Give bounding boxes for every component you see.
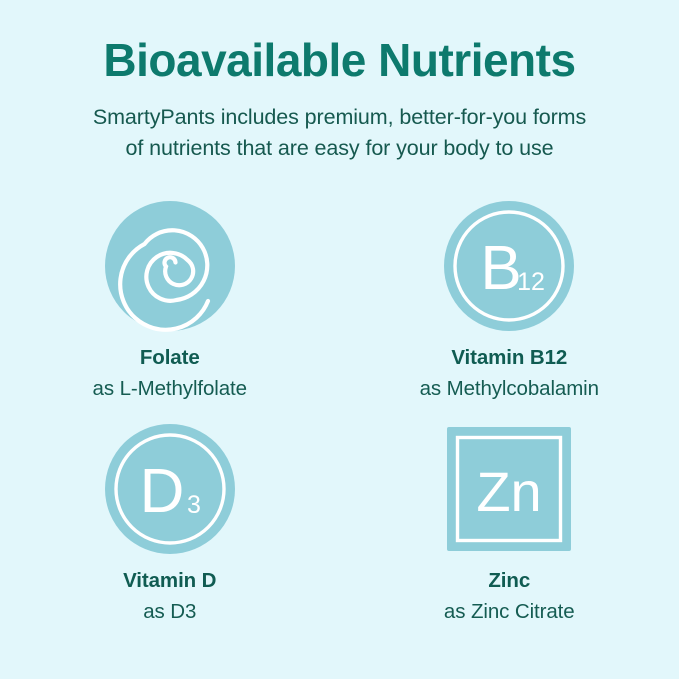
nutrient-name: Vitamin B12 bbox=[420, 345, 599, 371]
nutrient-labels: Folate as L-Methylfolate bbox=[93, 345, 247, 402]
vitamin-d3-icon: D 3 bbox=[104, 423, 236, 555]
nutrient-labels: Zinc as Zinc Citrate bbox=[444, 568, 575, 625]
b12-letter: B bbox=[481, 234, 522, 303]
spiral-icon bbox=[104, 200, 236, 332]
nutrient-card-vitamin-d: D 3 Vitamin D as D3 bbox=[0, 423, 340, 625]
b12-subscript: 12 bbox=[517, 268, 545, 296]
nutrient-name: Folate bbox=[93, 345, 247, 371]
nutrient-card-zinc: Zn Zinc as Zinc Citrate bbox=[340, 423, 679, 625]
nutrient-form: as L-Methylfolate bbox=[93, 375, 247, 403]
nutrient-grid: Folate as L-Methylfolate B 12 Vitamin B1… bbox=[0, 200, 679, 626]
page-subtitle: SmartyPants includes premium, better-for… bbox=[40, 102, 640, 163]
d3-subscript: 3 bbox=[187, 491, 201, 519]
nutrient-card-vitamin-b12: B 12 Vitamin B12 as Methylcobalamin bbox=[340, 200, 679, 402]
page-title: Bioavailable Nutrients bbox=[0, 36, 679, 84]
header: Bioavailable Nutrients SmartyPants inclu… bbox=[0, 0, 679, 163]
nutrient-infographic: Bioavailable Nutrients SmartyPants inclu… bbox=[0, 0, 679, 679]
nutrient-form: as Methylcobalamin bbox=[420, 375, 599, 403]
subtitle-line-2: of nutrients that are easy for your body… bbox=[40, 133, 640, 164]
nutrient-name: Vitamin D bbox=[123, 568, 216, 594]
subtitle-line-1: SmartyPants includes premium, better-for… bbox=[40, 102, 640, 133]
zinc-icon: Zn bbox=[443, 423, 575, 555]
nutrient-name: Zinc bbox=[444, 568, 575, 594]
nutrient-labels: Vitamin B12 as Methylcobalamin bbox=[420, 345, 599, 402]
nutrient-labels: Vitamin D as D3 bbox=[123, 568, 216, 625]
vitamin-b12-icon: B 12 bbox=[443, 200, 575, 332]
zinc-symbol: Zn bbox=[477, 460, 542, 523]
nutrient-form: as D3 bbox=[123, 598, 216, 626]
nutrient-card-folate: Folate as L-Methylfolate bbox=[0, 200, 340, 402]
d3-letter: D bbox=[139, 457, 184, 526]
nutrient-form: as Zinc Citrate bbox=[444, 598, 575, 626]
